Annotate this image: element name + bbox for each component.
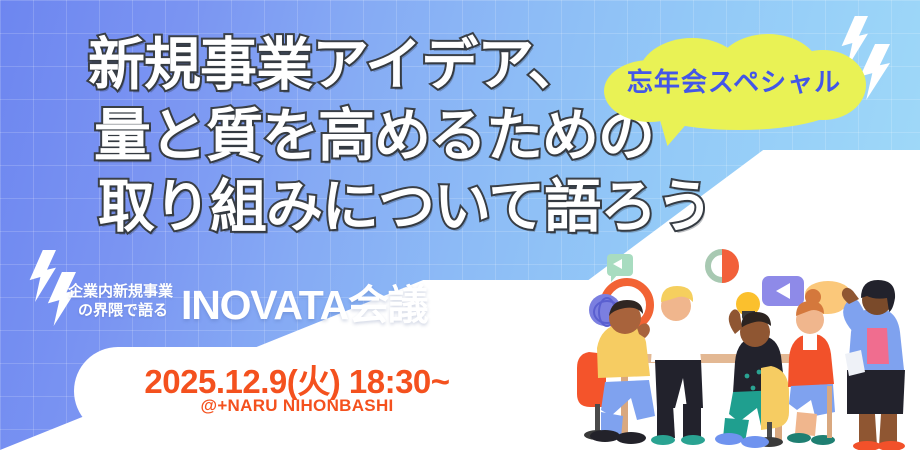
brand-name: INOVATA会議 <box>181 285 428 326</box>
lightning-bolt-icon <box>26 250 56 302</box>
special-badge: 忘年会スペシャル <box>598 34 870 126</box>
headline-line-3: 取り組みについて語ろう <box>88 170 708 245</box>
brand-kicker: 企業内新規事業 の界隈で語る <box>68 283 173 326</box>
brand-row: 企業内新規事業 の界隈で語る INOVATA会議 <box>68 283 428 326</box>
people-illustration <box>575 236 920 450</box>
badge-label: 忘年会スペシャル <box>598 34 870 126</box>
event-banner: 新規事業アイデア、 量と質を高めるための 取り組みについて語ろう 忘年会スペシャ… <box>0 0 920 450</box>
brand-kicker-line-2: の界隈で語る <box>68 302 173 321</box>
event-venue: @+NARU NIHONBASHI <box>112 396 482 416</box>
brand-kicker-line-1: 企業内新規事業 <box>68 283 173 302</box>
